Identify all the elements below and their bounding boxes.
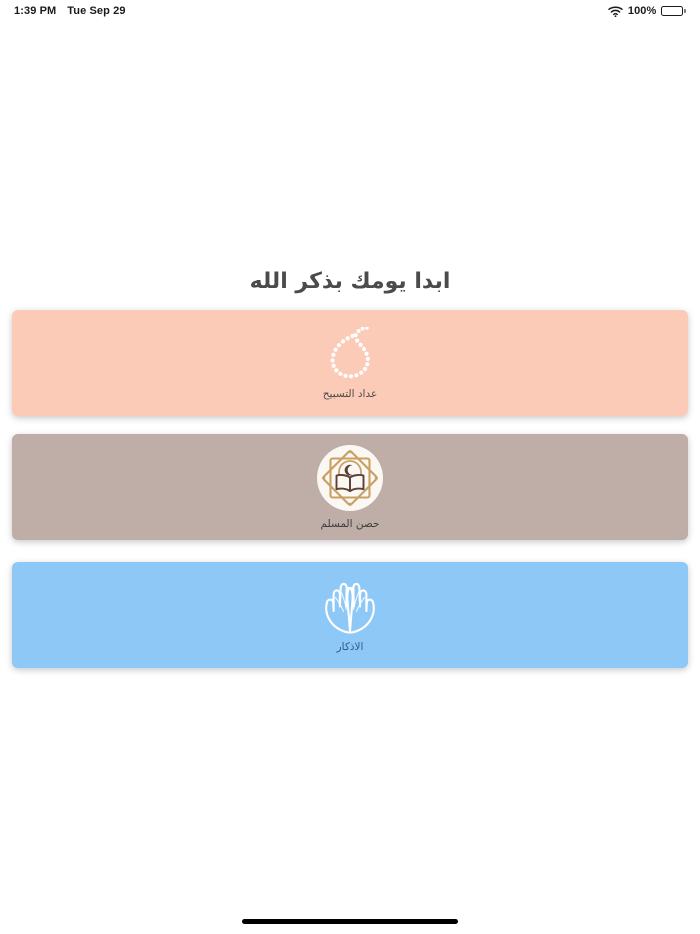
battery-full-icon xyxy=(661,6,686,17)
hisn-almuslim-card[interactable]: حصن المسلم xyxy=(12,434,688,540)
card-label: حصن المسلم xyxy=(321,518,380,530)
status-bar: 1:39 PM Tue Sep 29 100% xyxy=(0,0,700,22)
status-date: Tue Sep 29 xyxy=(67,5,125,17)
status-bar-right: 100% xyxy=(608,5,686,17)
tasbih-counter-card[interactable]: عداد التسبيح xyxy=(12,310,688,416)
page-title: ابدا يومك بذكر الله xyxy=(0,269,700,294)
card-label: الاذكار xyxy=(337,641,364,653)
battery-percent-label: 100% xyxy=(628,5,657,17)
app-screen: ابدا يومك بذكر الله xyxy=(0,22,700,934)
status-bar-left: 1:39 PM Tue Sep 29 xyxy=(14,5,126,17)
adhkar-card[interactable]: الاذكار xyxy=(12,562,688,668)
quran-book-badge-icon xyxy=(317,445,383,515)
wifi-icon xyxy=(608,6,623,17)
prayer-beads-icon xyxy=(322,327,378,385)
home-indicator[interactable] xyxy=(242,919,458,924)
status-time: 1:39 PM xyxy=(14,5,56,17)
card-label: عداد التسبيح xyxy=(323,388,377,400)
praying-hands-icon xyxy=(315,578,385,638)
